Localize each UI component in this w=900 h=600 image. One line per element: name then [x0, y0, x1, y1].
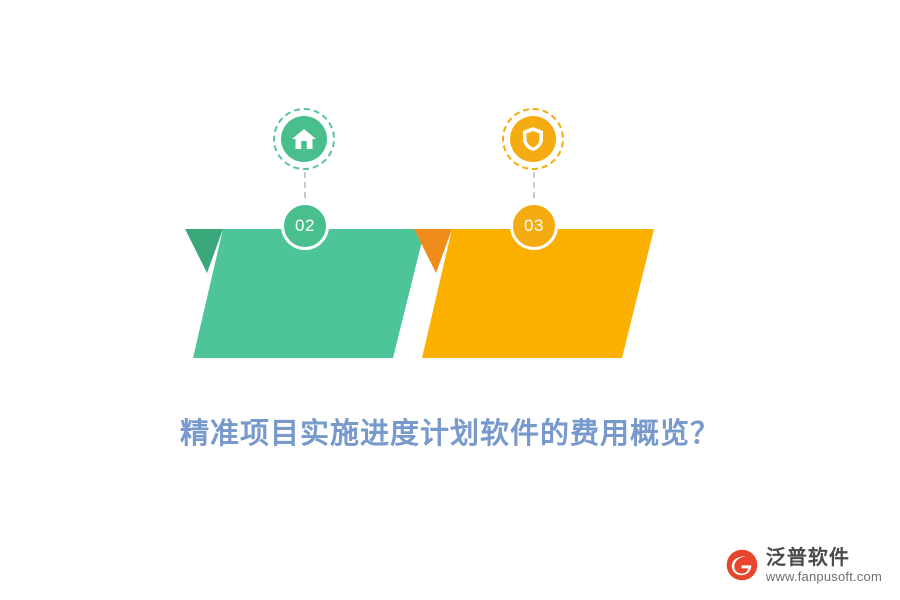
node-number-02[interactable]: 02	[281, 202, 329, 250]
page-title: 精准项目实施进度计划软件的费用概览？	[0, 410, 900, 452]
logo-text-block: 泛普软件 www.fanpusoft.com	[766, 546, 882, 584]
home-icon-circle	[281, 116, 327, 162]
fanpu-logo-icon	[725, 548, 759, 582]
shield-icon-circle	[510, 116, 556, 162]
icon-ring-03	[502, 108, 564, 170]
diagram-canvas: 02 03 精准项目实施进度计划软件的费用概览？	[0, 0, 900, 600]
logo-name: 泛普软件	[766, 546, 882, 568]
brand-logo[interactable]: 泛普软件 www.fanpusoft.com	[725, 546, 882, 584]
icon-ring-02	[273, 108, 335, 170]
node-number-03[interactable]: 03	[510, 202, 558, 250]
shield-icon	[521, 126, 545, 152]
home-icon	[291, 127, 317, 151]
logo-url: www.fanpusoft.com	[766, 570, 882, 584]
node-03-group: 03	[0, 0, 900, 600]
